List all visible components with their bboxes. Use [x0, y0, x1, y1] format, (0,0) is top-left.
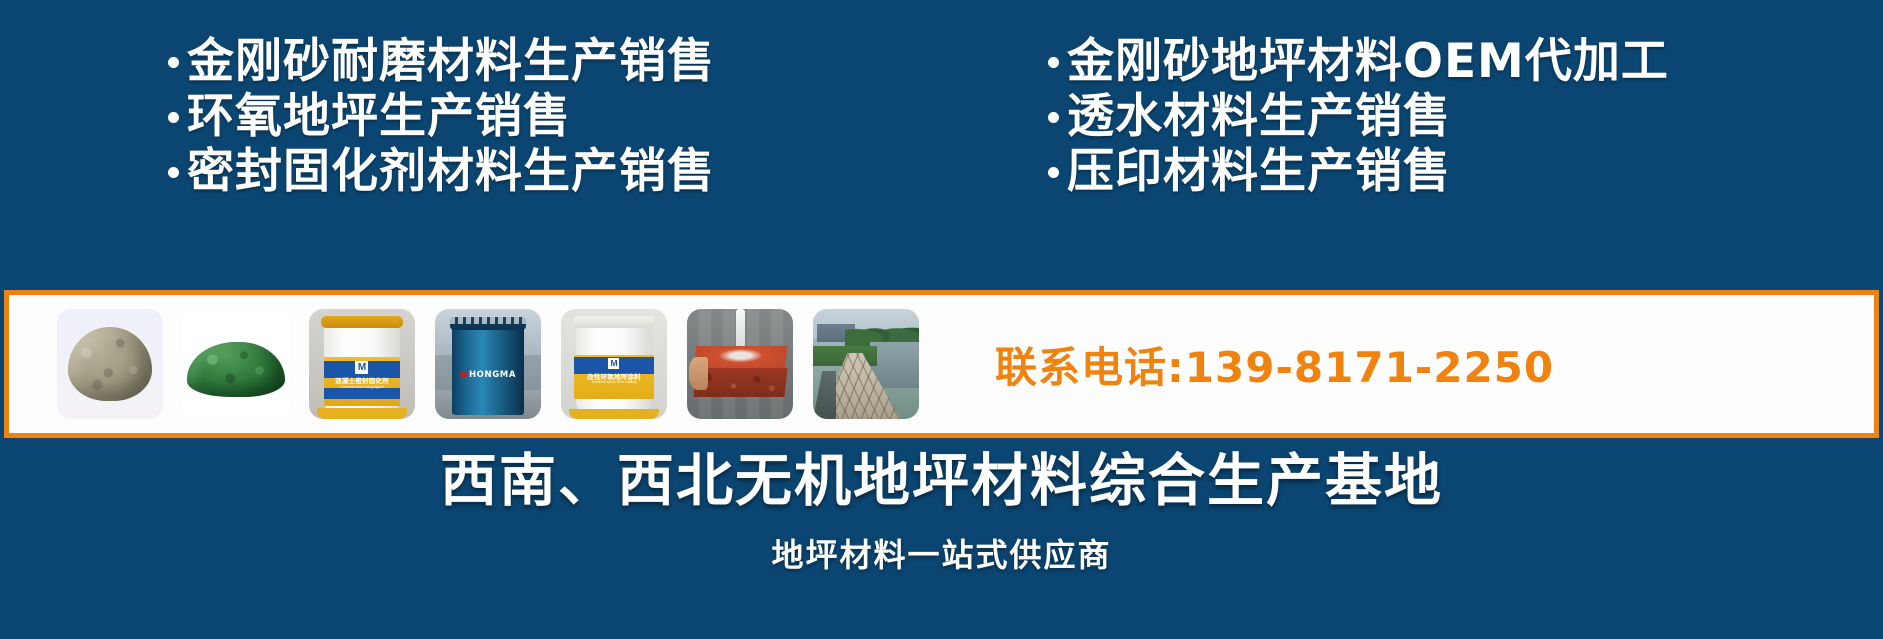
pail-base — [317, 408, 406, 419]
product-image-hongma-drum: HONGMA — [435, 309, 541, 419]
headline-slogan: 西南、西北无机地坪材料综合生产基地 — [440, 452, 1443, 512]
bullet-icon — [168, 112, 179, 123]
feature-item: 透水材料生产销售 — [1048, 89, 1669, 144]
contact-phone-number[interactable]: 联系电话:139-8171-2250 — [995, 334, 1554, 395]
powder-pile-shape — [187, 342, 285, 397]
pail-label-text-group: 混凝土密封固化剂 Concrete seal curing agent — [324, 378, 400, 389]
bullet-icon — [168, 167, 179, 178]
path-photo-kerb — [813, 371, 836, 419]
product-image-stamped-pathway — [813, 309, 919, 419]
drum-clamp-ring — [450, 317, 526, 325]
promo-banner: 金刚砂耐磨材料生产销售 环氧地坪生产销售 密封固化剂材料生产销售 金刚砂地坪材料… — [0, 0, 1883, 639]
m-logo-icon: M — [355, 361, 368, 374]
pail-label-sub: Modified epoxy floor coating — [592, 381, 637, 385]
slogan-section: 西南、西北无机地坪材料综合生产基地 地坪材料一站式供应商 — [0, 438, 1883, 639]
pail-label-band-blue-lower — [324, 388, 400, 399]
feature-column-right: 金刚砂地坪材料OEM代加工 透水材料生产销售 压印材料生产销售 — [1048, 34, 1669, 199]
drum-brand-group: HONGMA — [452, 371, 524, 380]
pail-lid — [321, 316, 404, 328]
feature-item: 环氧地坪生产销售 — [168, 89, 715, 144]
bullet-icon — [168, 57, 179, 68]
powder-pile-shape — [68, 327, 153, 402]
bullet-icon — [1048, 112, 1059, 123]
feature-list-section: 金刚砂耐磨材料生产销售 环氧地坪生产销售 密封固化剂材料生产销售 金刚砂地坪材料… — [0, 0, 1883, 285]
feature-label: 环氧地坪生产销售 — [187, 89, 571, 144]
drum-body — [452, 320, 524, 415]
sub-slogan: 地坪材料一站式供应商 — [771, 530, 1111, 576]
feature-label: 金刚砂耐磨材料生产销售 — [187, 34, 715, 89]
bullet-icon — [1048, 167, 1059, 178]
hand-shape — [689, 357, 708, 390]
pail-label-main: 混凝土密封固化剂 — [335, 378, 389, 385]
feature-item: 金刚砂地坪材料OEM代加工 — [1048, 34, 1669, 89]
product-image-permeable-slab — [687, 309, 793, 419]
product-showcase-panel: M 混凝土密封固化剂 Concrete seal curing agent HO… — [4, 290, 1879, 438]
product-image-green-powder — [183, 309, 289, 419]
product-image-seal-curing-agent-pail: M 混凝土密封固化剂 Concrete seal curing agent — [309, 309, 415, 419]
feature-label: 密封固化剂材料生产销售 — [187, 144, 715, 199]
bullet-icon — [1048, 57, 1059, 68]
feature-label: 压印材料生产销售 — [1067, 144, 1451, 199]
feature-label: 透水材料生产销售 — [1067, 89, 1451, 144]
drum-brand-text: HONGMA — [469, 371, 516, 380]
brand-logo-wrap: M — [324, 361, 400, 374]
product-image-grey-powder — [57, 309, 163, 419]
m-logo-icon: M — [608, 358, 619, 369]
product-thumbnail-strip: M 混凝土密封固化剂 Concrete seal curing agent HO… — [57, 309, 919, 419]
product-image-epoxy-coating-pail: M 改性环氧地坪涂料 Modified epoxy floor coating — [561, 309, 667, 419]
brand-mark-icon — [460, 371, 467, 378]
feature-item: 金刚砂耐磨材料生产销售 — [168, 34, 715, 89]
feature-item: 密封固化剂材料生产销售 — [168, 144, 715, 199]
pail-lid — [573, 316, 656, 328]
feature-column-left: 金刚砂耐磨材料生产销售 环氧地坪生产销售 密封固化剂材料生产销售 — [168, 34, 715, 199]
pail-label-sub: Concrete seal curing agent — [341, 386, 384, 390]
feature-label: 金刚砂地坪材料OEM代加工 — [1067, 34, 1669, 89]
brand-logo-wrap: M — [574, 358, 655, 369]
pail-base — [569, 409, 658, 419]
pail-label-text-group: 改性环氧地坪涂料 Modified epoxy floor coating — [576, 374, 652, 385]
feature-item: 压印材料生产销售 — [1048, 144, 1669, 199]
